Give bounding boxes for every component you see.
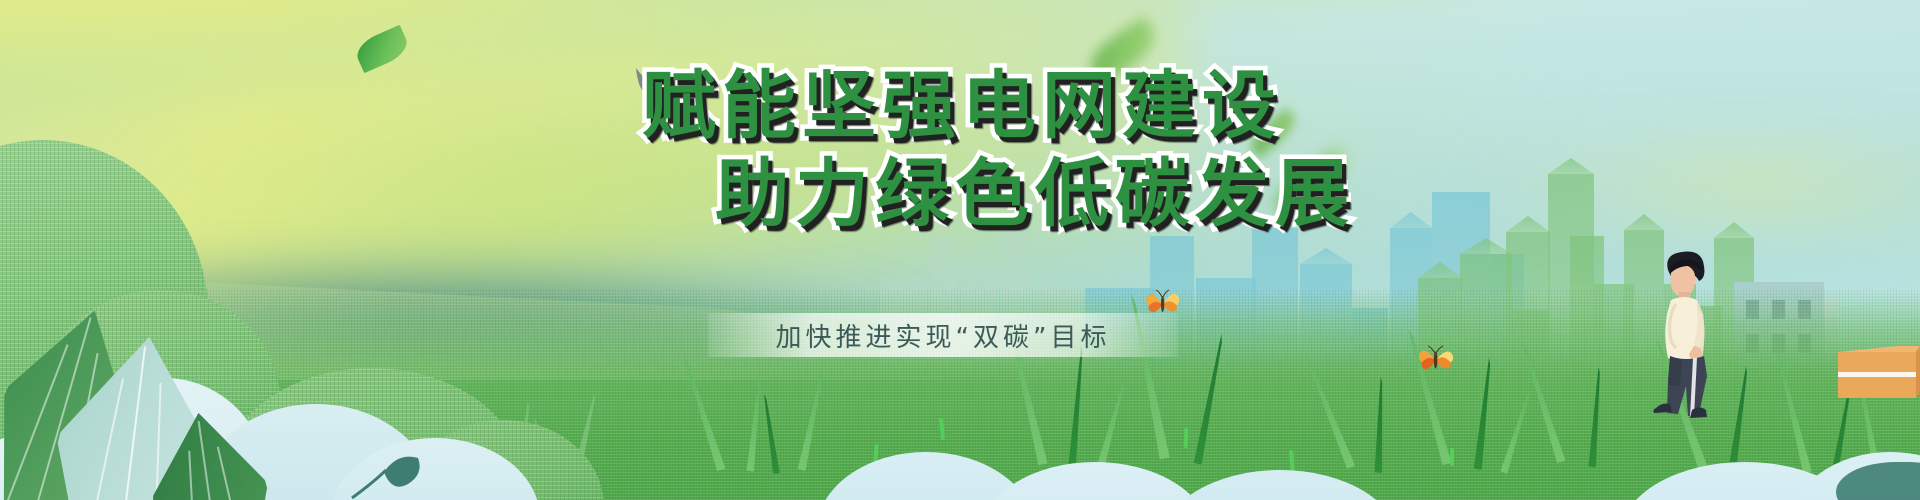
grass-tick [1184,428,1189,448]
park-bench [1838,346,1920,408]
grass-tick [939,418,945,440]
butterfly-lower [1418,344,1454,376]
walking-person [1648,248,1720,418]
eco-power-grid-banner: 赋能坚强电网建设 助力绿色低碳发展 加快推进实现“双碳”目标 [0,0,1920,500]
banner-subtitle: 加快推进实现“双碳”目标 [708,313,1178,357]
stemmed-leaf [348,432,434,500]
swallow-silhouette [628,66,706,118]
grass-tick [1450,448,1454,466]
